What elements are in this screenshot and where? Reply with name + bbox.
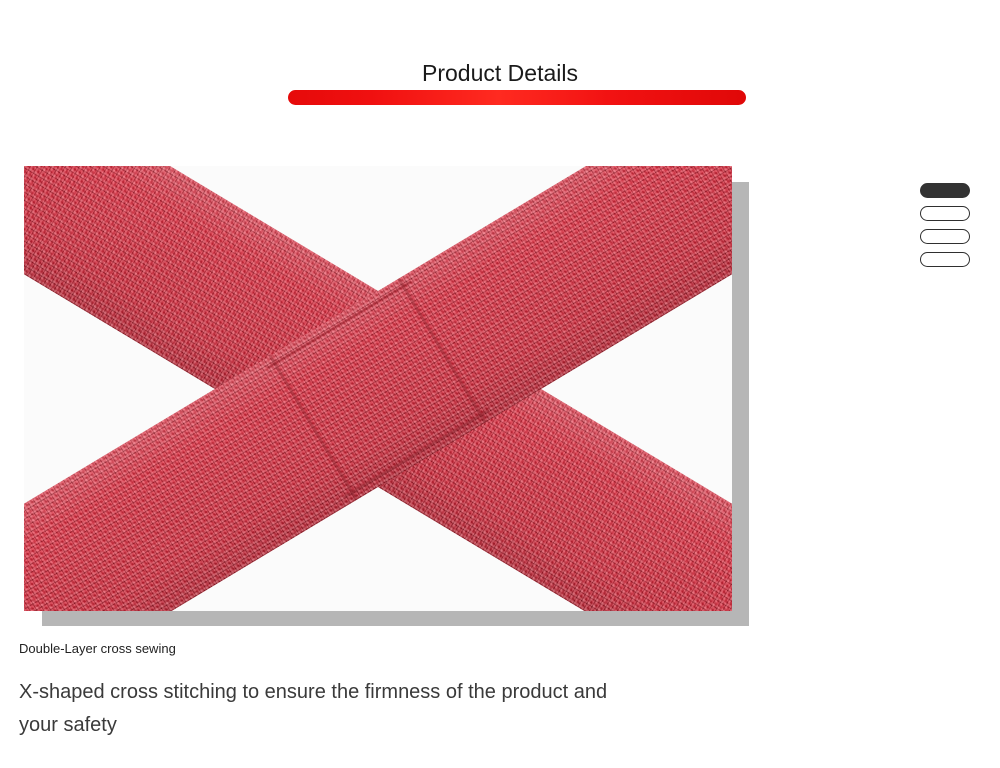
page-indicator-1[interactable]	[920, 183, 970, 198]
page-indicator-3[interactable]	[920, 229, 970, 244]
page-indicators	[920, 183, 972, 275]
photo-caption: Double-Layer cross sewing	[19, 640, 176, 658]
page-title: Product Details	[0, 58, 1000, 88]
page-indicator-2[interactable]	[920, 206, 970, 221]
product-details-page: Product Details Double-Layer cross sewin…	[0, 0, 1000, 768]
product-photo[interactable]	[24, 166, 732, 611]
title-underline-bar	[288, 90, 746, 105]
page-header: Product Details	[0, 58, 1000, 88]
product-description: X-shaped cross stitching to ensure the f…	[19, 676, 639, 742]
page-indicator-4[interactable]	[920, 252, 970, 267]
